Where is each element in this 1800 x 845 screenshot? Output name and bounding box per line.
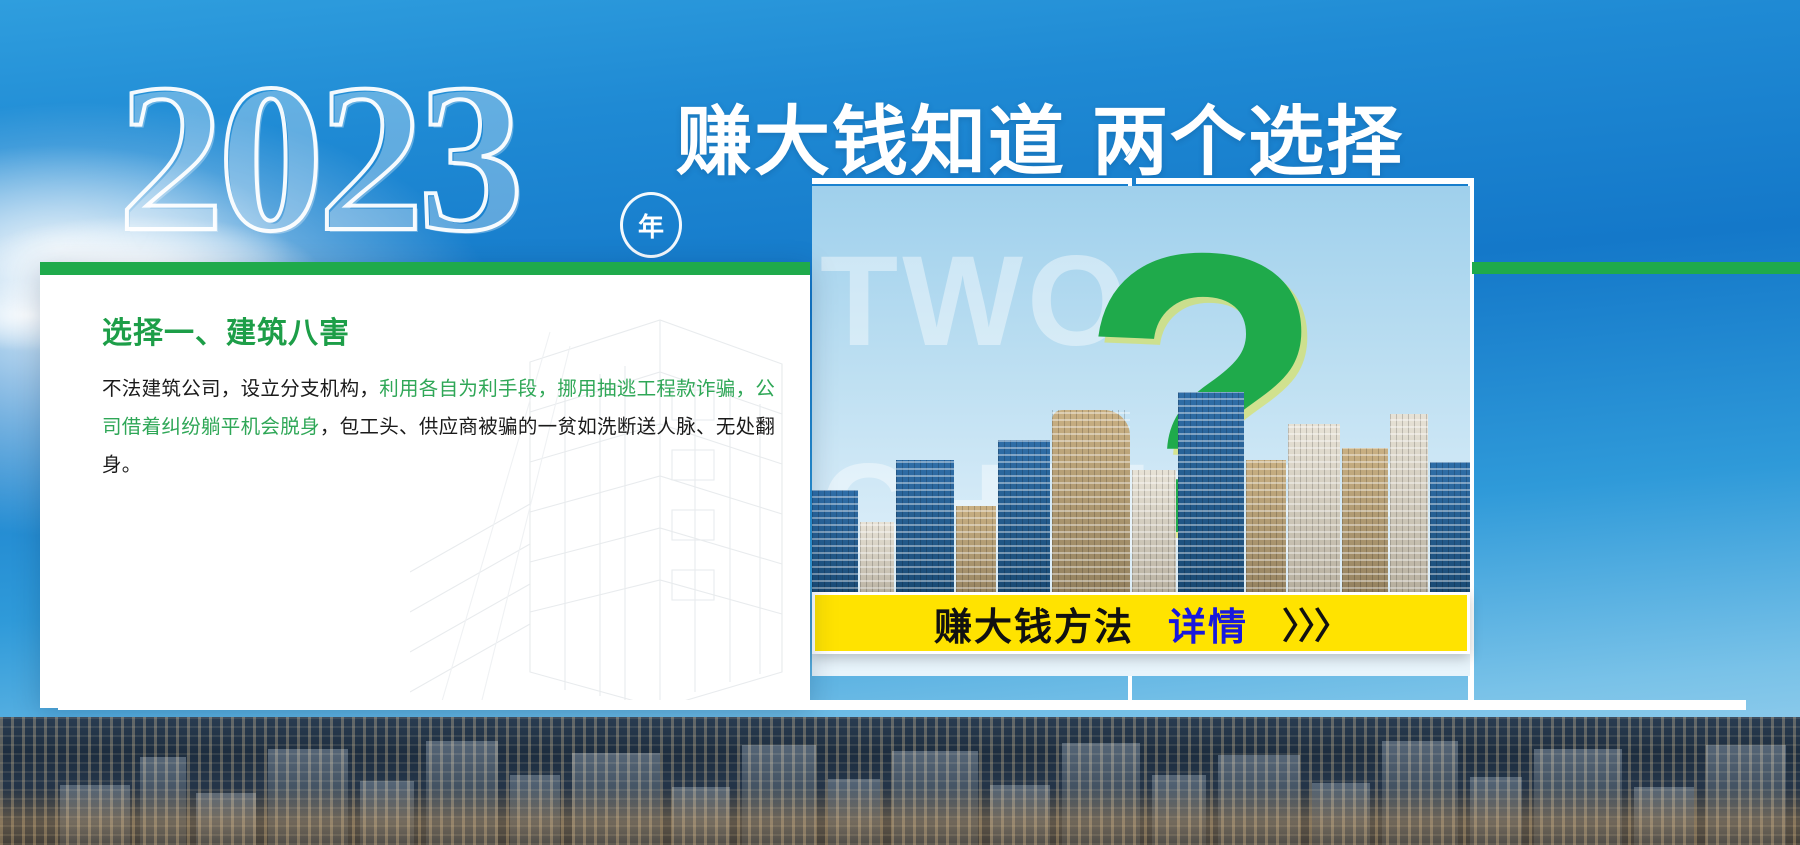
section-one-body: 不法建筑公司，设立分支机构，利用各自为利手段，挪用抽逃工程款诈骗，公司借着纠纷躺… — [102, 370, 780, 484]
cta-details-link[interactable]: 详情 — [1168, 596, 1248, 651]
bottom-skyline-strip — [0, 717, 1800, 845]
year-unit-badge: 年 — [620, 192, 682, 258]
card-section-one: 选择一、建筑八害 不法建筑公司，设立分支机构，利用各自为利手段，挪用抽逃工程款诈… — [102, 308, 792, 484]
green-accent-stripe — [1472, 262, 1800, 274]
headline-rule-left — [812, 178, 1128, 184]
headline-part-1: 赚大钱知道 — [676, 100, 1066, 185]
chevron-right-icon: 〉〉〉 — [1282, 597, 1348, 649]
section-one-seg-0: 不法建筑公司，设立分支机构， — [102, 378, 379, 400]
card-top-accent-bar — [40, 262, 810, 275]
cta-banner[interactable]: 赚大钱方法 详情 〉〉〉 — [812, 592, 1470, 654]
cta-main-label: 赚大钱方法 — [934, 596, 1134, 651]
headline-rule-right — [1136, 178, 1474, 184]
headline-part-2: 两个选择 — [1092, 100, 1404, 185]
page-title: 赚大钱知道两个选择 — [676, 80, 1404, 190]
section-one-title: 选择一、建筑八害 — [102, 308, 792, 352]
banner-bottom-frame — [58, 700, 1746, 710]
city-skyline-photo — [812, 392, 1470, 610]
poster-canvas: 2023 年 赚大钱知道两个选择 TWO CHOICES ? — [0, 0, 1800, 845]
content-card: 选择一、建筑八害 不法建筑公司，设立分支机构，利用各自为利手段，挪用抽逃工程款诈… — [40, 262, 810, 708]
